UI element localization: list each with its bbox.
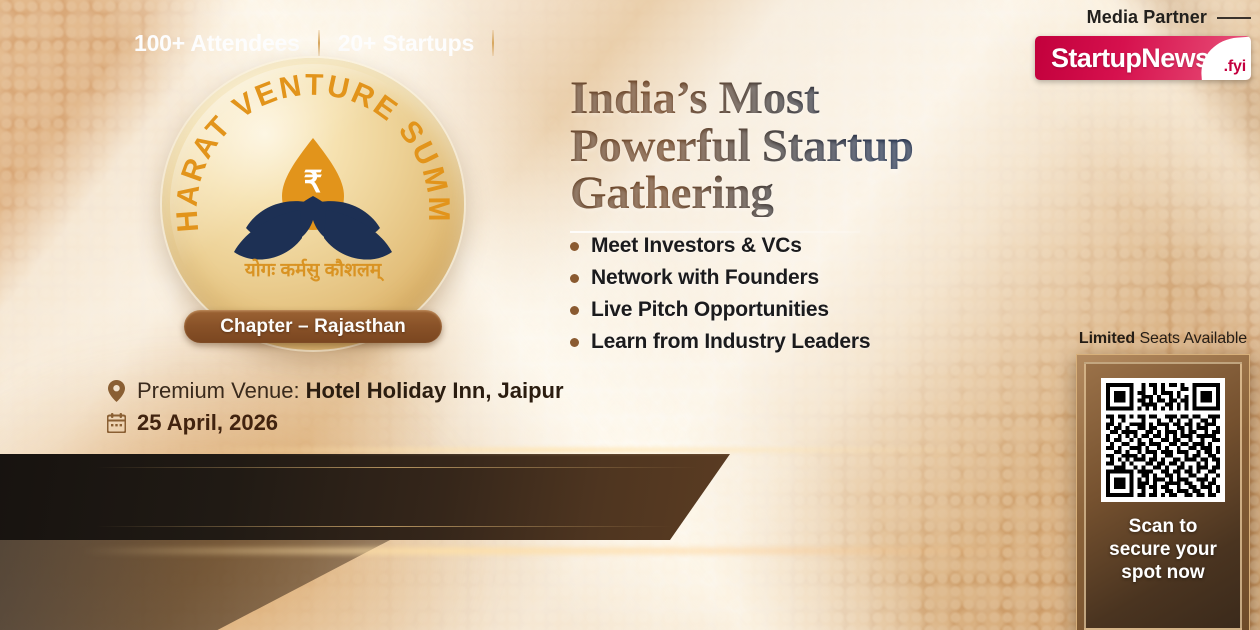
stat-separator-icon bbox=[492, 30, 494, 56]
bullet-dot-icon bbox=[570, 338, 579, 347]
bullet-dot-icon bbox=[570, 306, 579, 315]
headline-line-2: Powerful Startup bbox=[570, 124, 1000, 170]
qr-card[interactable]: Scan to secure your spot now bbox=[1076, 354, 1250, 630]
stats-bar bbox=[0, 454, 730, 540]
venue-value: Hotel Holiday Inn, Jaipur bbox=[306, 378, 564, 404]
chapter-badge-label: Chapter – Rajasthan bbox=[220, 316, 406, 338]
media-partner-label: Media Partner bbox=[1087, 7, 1207, 28]
seats-note-rest: Seats Available bbox=[1135, 330, 1247, 347]
event-logo-medal: BHARAT VENTURE SUMMIT ₹ योगः कर्मसु कौशल… bbox=[162, 58, 467, 358]
benefit-label: Meet Investors & VCs bbox=[591, 234, 802, 258]
media-partner-block: Media Partner StartupNews .fyi bbox=[1035, 7, 1251, 80]
date-row: 25 April, 2026 bbox=[104, 410, 564, 436]
chapter-badge: Chapter – Rajasthan bbox=[184, 310, 442, 343]
date-value: 25 April, 2026 bbox=[137, 410, 278, 436]
location-pin-icon bbox=[104, 380, 128, 402]
venue-row: Premium Venue: Hotel Holiday Inn, Jaipur bbox=[104, 378, 564, 404]
stat-attendees: 100+ Attendees bbox=[134, 30, 300, 57]
headline-divider bbox=[570, 231, 860, 233]
calendar-icon bbox=[104, 413, 128, 433]
qr-cta-line-3: spot now bbox=[1109, 561, 1217, 584]
lotus-emblem-icon: ₹ bbox=[214, 136, 412, 266]
startupnews-wordmark: StartupNews bbox=[1035, 43, 1209, 74]
media-partner-heading: Media Partner bbox=[1087, 7, 1251, 28]
benefits-list: Meet Investors & VCs Network with Founde… bbox=[570, 234, 870, 362]
seats-note-emphasis: Limited bbox=[1079, 330, 1135, 347]
benefit-label: Live Pitch Opportunities bbox=[591, 298, 829, 322]
qr-cta-line-1: Scan to bbox=[1109, 515, 1217, 538]
medal-motto: योगः कर्मसु कौशलम् bbox=[162, 256, 464, 282]
qr-cta-text: Scan to secure your spot now bbox=[1109, 515, 1217, 585]
headline-line-1: India’s Most bbox=[570, 76, 1000, 122]
startupnews-logo[interactable]: StartupNews .fyi bbox=[1035, 36, 1251, 80]
media-partner-dash-icon bbox=[1217, 17, 1251, 19]
list-item: Live Pitch Opportunities bbox=[570, 298, 870, 322]
benefit-label: Network with Founders bbox=[591, 266, 819, 290]
headline-block: India’s Most Powerful Startup Gathering bbox=[570, 76, 1000, 233]
event-details: Premium Venue: Hotel Holiday Inn, Jaipur… bbox=[104, 378, 564, 442]
bullet-dot-icon bbox=[570, 274, 579, 283]
qr-code[interactable] bbox=[1101, 378, 1225, 502]
list-item: Network with Founders bbox=[570, 266, 870, 290]
stats-bar-bottom-glow bbox=[80, 548, 1060, 554]
event-banner: Media Partner StartupNews .fyi BHARAT VE… bbox=[0, 0, 1260, 630]
bullet-dot-icon bbox=[570, 242, 579, 251]
stat-separator-icon bbox=[318, 30, 320, 56]
benefit-label: Learn from Industry Leaders bbox=[591, 330, 870, 354]
list-item: Learn from Industry Leaders bbox=[570, 330, 870, 354]
venue-label: Premium Venue: bbox=[137, 378, 300, 404]
stat-startups: 20+ Startups bbox=[338, 30, 474, 57]
stats-bar-top-glow bbox=[180, 448, 1010, 452]
qr-cta-line-2: secure your bbox=[1109, 538, 1217, 561]
qr-card-inner: Scan to secure your spot now bbox=[1084, 362, 1242, 630]
svg-text:₹: ₹ bbox=[303, 166, 322, 199]
startupnews-tld: .fyi bbox=[1224, 58, 1246, 76]
list-item: Meet Investors & VCs bbox=[570, 234, 870, 258]
qr-block: Limited Seats Available bbox=[1076, 330, 1250, 630]
seats-availability-note: Limited Seats Available bbox=[1076, 330, 1250, 348]
headline-line-3: Gathering bbox=[570, 171, 1000, 217]
